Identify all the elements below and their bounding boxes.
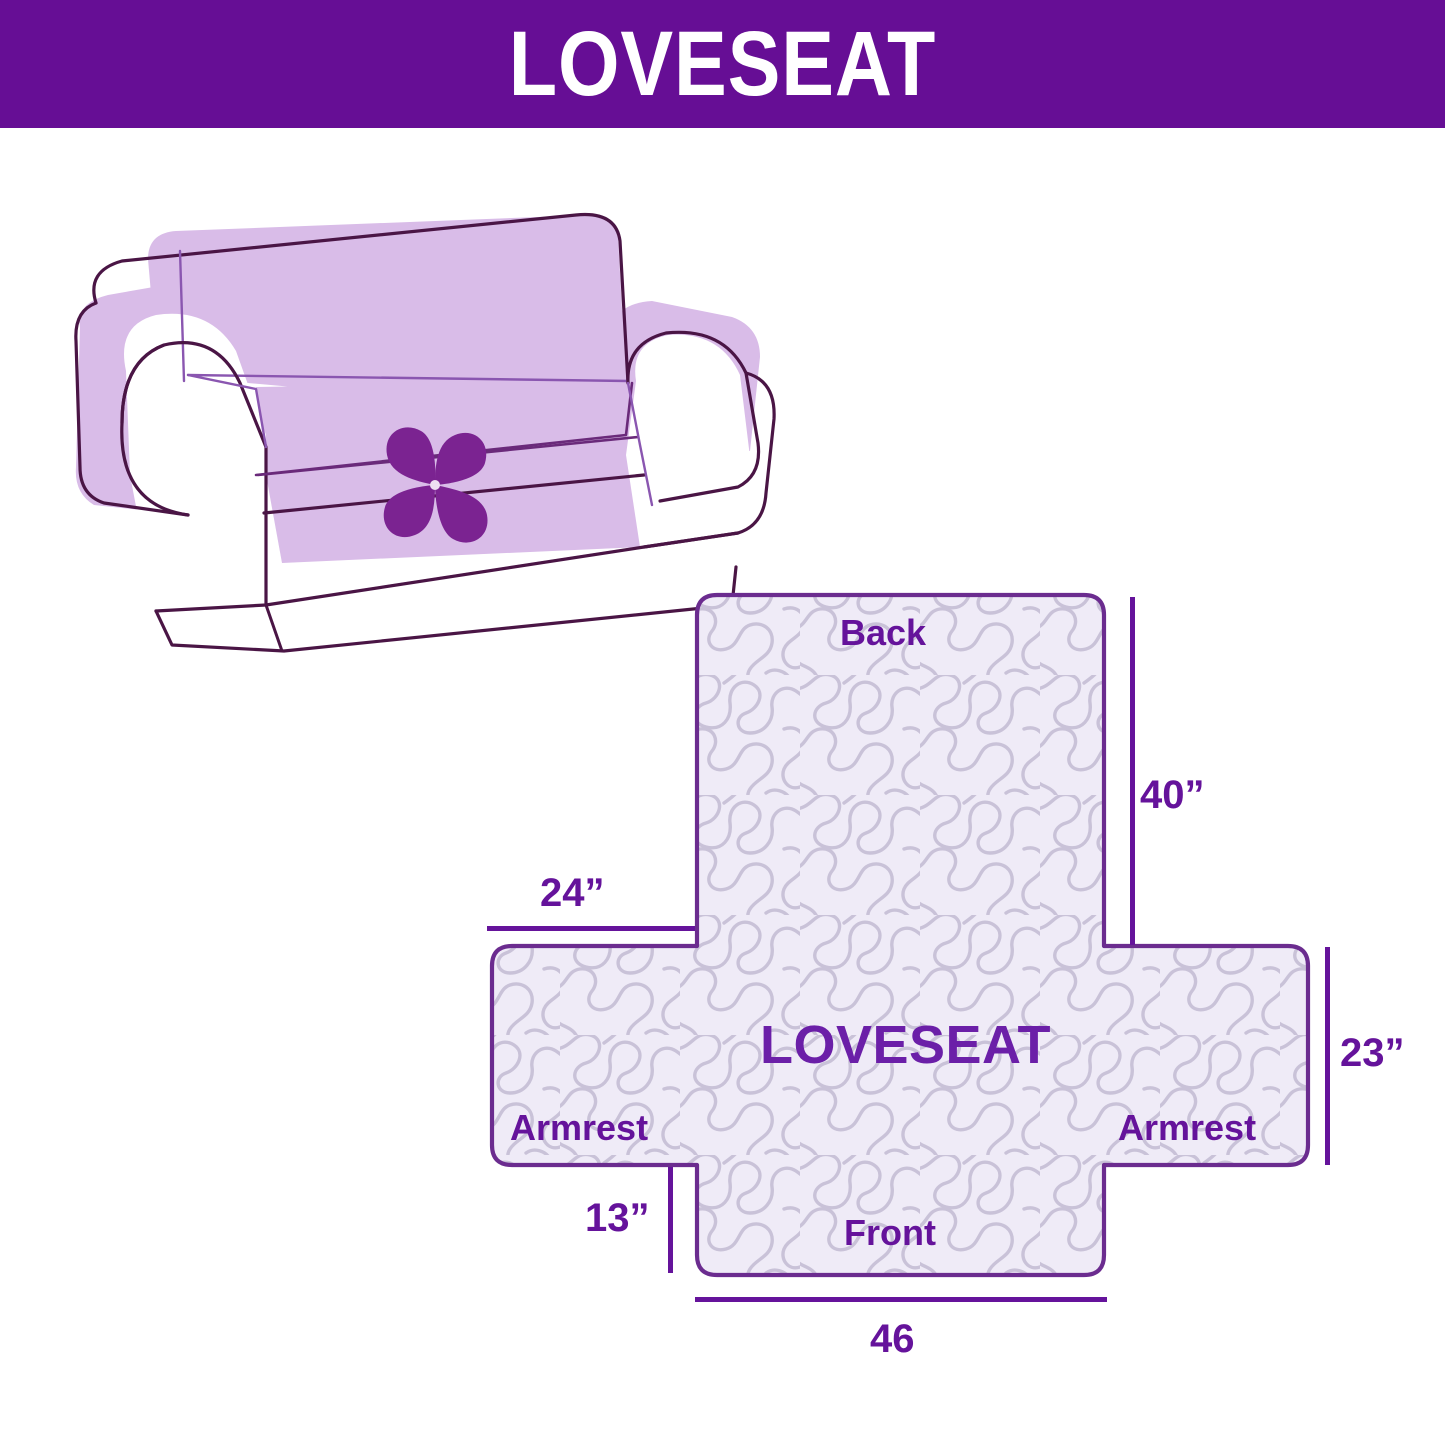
dim-line-armrest-height [1325, 947, 1330, 1165]
header-banner: LOVESEAT [0, 0, 1445, 128]
panel-label-armrest-left: Armrest [510, 1110, 648, 1146]
dim-line-back-width [487, 926, 695, 931]
panel-label-armrest-right: Armrest [1118, 1110, 1256, 1146]
page-title: LOVESEAT [509, 18, 936, 110]
dim-line-back-height [1130, 597, 1135, 945]
center-label-loveseat: LOVESEAT [760, 1018, 1051, 1072]
dim-label-back-height: 40” [1140, 775, 1205, 815]
dim-line-total-width [695, 1297, 1107, 1302]
panel-label-front: Front [844, 1215, 936, 1251]
dim-label-total-width: 46 [870, 1319, 915, 1359]
dim-line-front-height [668, 1167, 673, 1273]
dim-label-front-height: 13” [585, 1198, 650, 1238]
dim-label-armrest-height: 23” [1340, 1033, 1405, 1073]
panel-label-back: Back [840, 615, 926, 651]
dim-label-back-width: 24” [540, 873, 605, 913]
loveseat-cover-pattern-diagram: Back Armrest Armrest Front LOVESEAT 40” … [440, 555, 1445, 1390]
cover-outline [492, 595, 1308, 1275]
